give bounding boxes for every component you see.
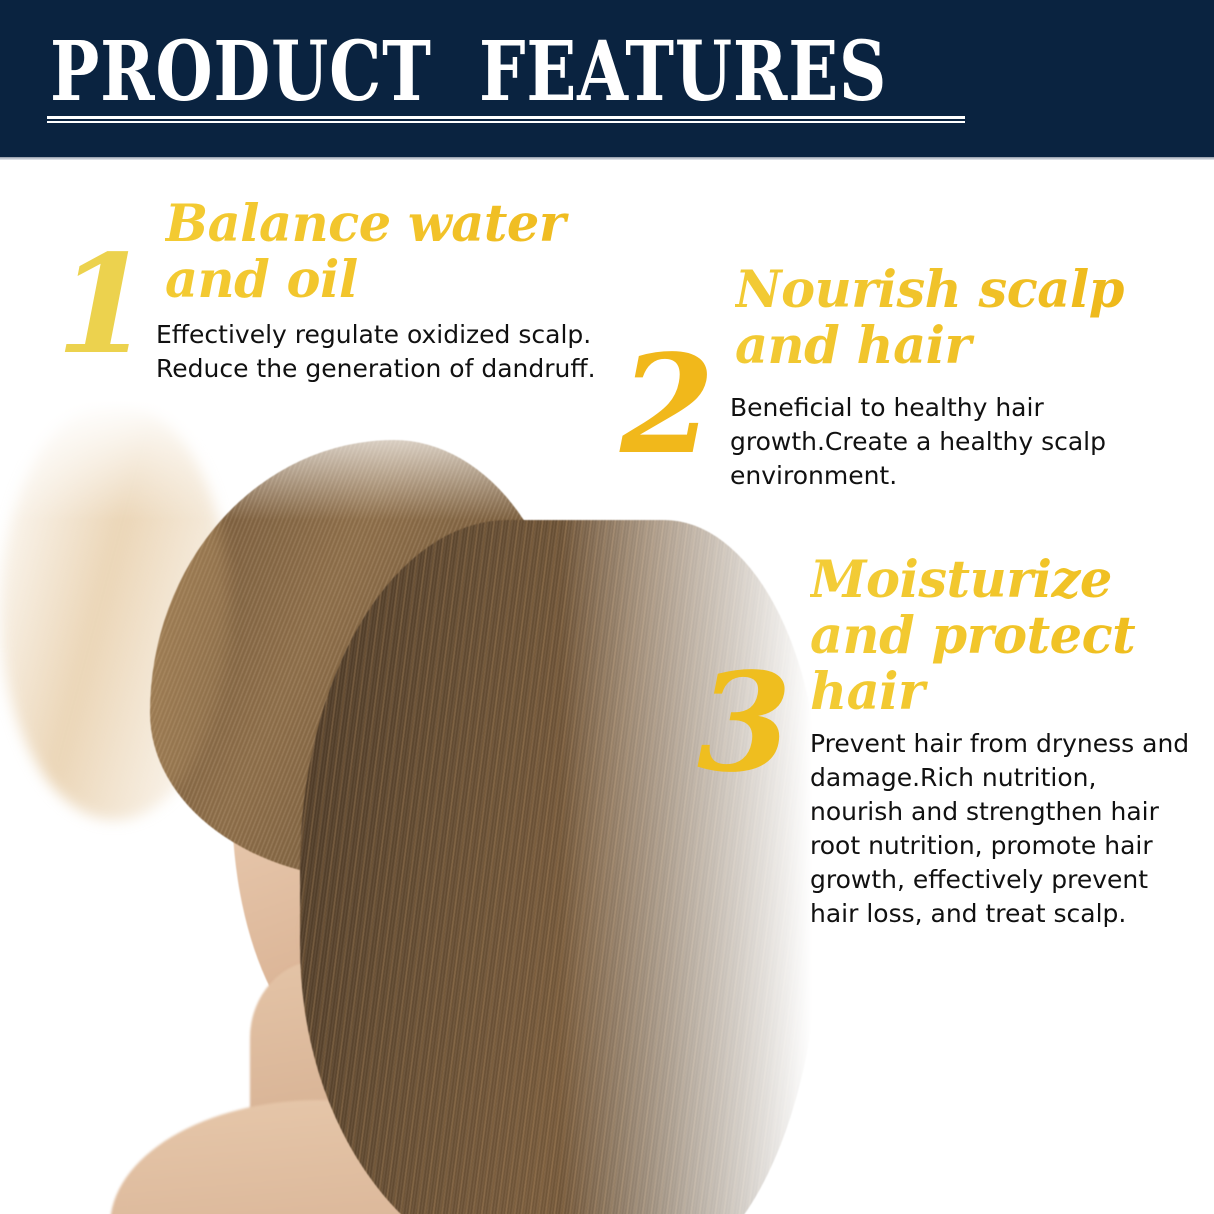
product-features-infographic: PRODUCT FEATURES 1 Balance water and oil… — [0, 0, 1214, 1214]
title-underline — [47, 116, 965, 123]
feature-heading-3: Moisturize and protect hair — [810, 552, 1180, 720]
model-photo — [0, 400, 812, 1214]
feature-body-2: Beneficial to healthy hair growth.Create… — [730, 391, 1150, 493]
feature-number-2: 2 — [620, 337, 715, 473]
feature-body-1: Effectively regulate oxidized scalp. Red… — [156, 318, 626, 386]
header-divider — [0, 157, 1214, 160]
photo-fade-right — [560, 400, 812, 1214]
feature-heading-2: Nourish scalp and hair — [735, 262, 1165, 374]
feature-number-1: 1 — [56, 237, 151, 373]
feature-body-3: Prevent hair from dryness and damage.Ric… — [810, 727, 1190, 931]
feature-heading-1: Balance water and oil — [165, 196, 605, 308]
page-title: PRODUCT FEATURES — [50, 31, 887, 113]
feature-number-3: 3 — [697, 655, 792, 791]
